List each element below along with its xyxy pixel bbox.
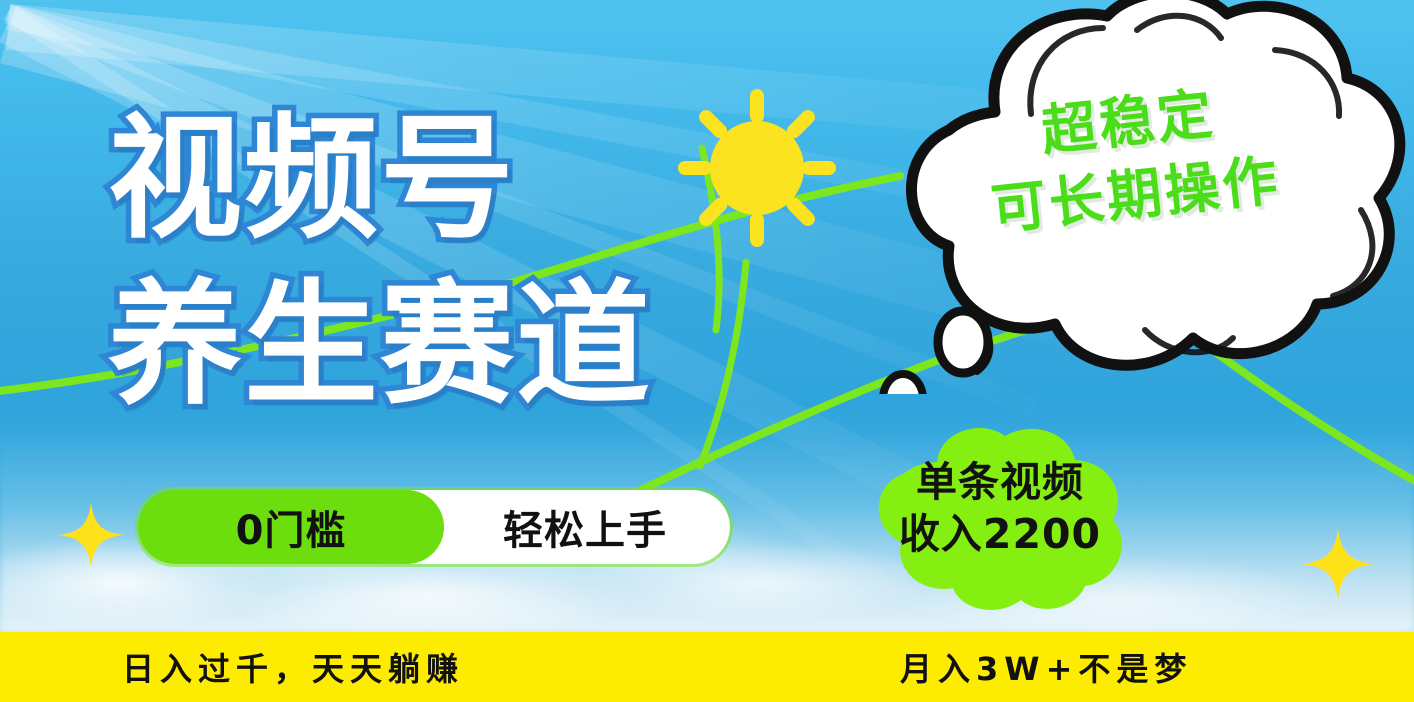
headline: 视频号 养生赛道 bbox=[108, 96, 652, 428]
headline-line-1: 视频号 bbox=[108, 96, 652, 262]
income-badge: 单条视频 收入2200 bbox=[855, 418, 1145, 618]
pill-easy-start[interactable]: 轻松上手 bbox=[410, 490, 730, 564]
sparkle-icon bbox=[1302, 528, 1374, 600]
income-badge-text: 单条视频 收入2200 bbox=[855, 456, 1145, 561]
footer-right-text: 月入3W+不是梦 bbox=[900, 644, 1192, 690]
headline-line-2: 养生赛道 bbox=[108, 262, 652, 428]
income-line-2: 收入2200 bbox=[855, 508, 1145, 560]
footer-bar: 日入过千，天天躺赚 月入3W+不是梦 bbox=[0, 632, 1414, 702]
thought-bubble: 超稳定 可长期操作 bbox=[845, 0, 1414, 394]
sparkle-icon bbox=[58, 502, 124, 568]
pill-no-barrier[interactable]: 0门槛 bbox=[138, 490, 444, 564]
promo-banner: 视频号 养生赛道 0门槛 轻松上手 超稳定 可长期操作 bbox=[0, 0, 1414, 702]
footer-left-text: 日入过千，天天躺赚 bbox=[122, 644, 464, 690]
sun-icon bbox=[672, 83, 842, 253]
feature-pill-group: 0门槛 轻松上手 bbox=[138, 490, 730, 564]
income-line-1: 单条视频 bbox=[855, 456, 1145, 508]
